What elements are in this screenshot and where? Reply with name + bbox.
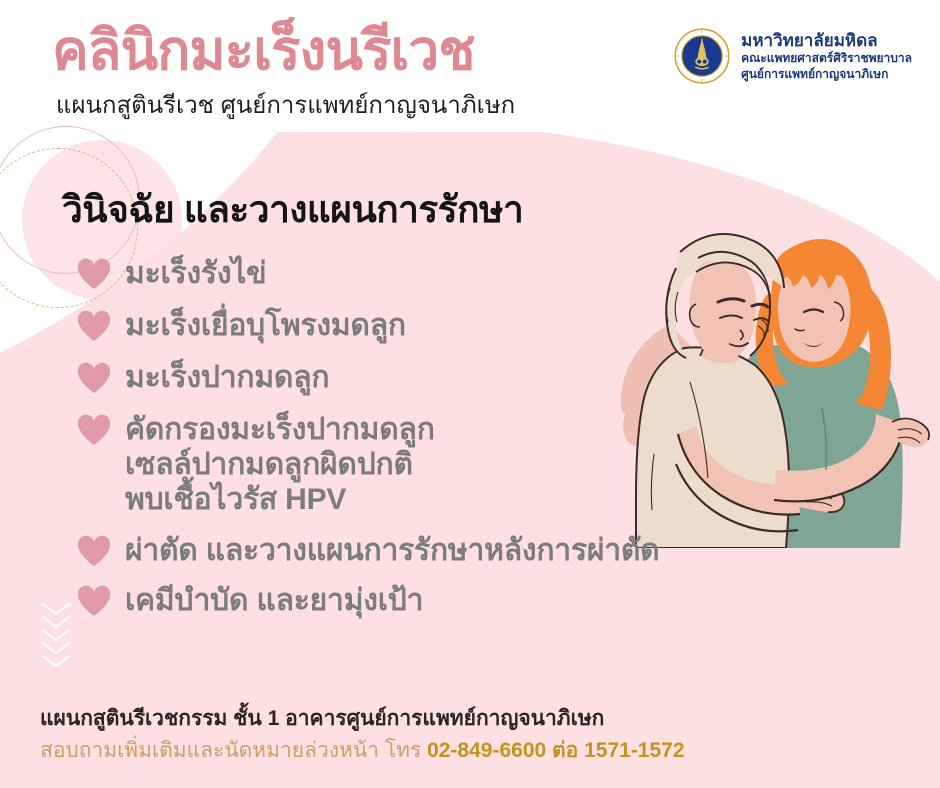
list-item-line: มะเร็งรังไข่: [125, 256, 266, 291]
list-item-line: มะเร็งเยื่อบุโพรงมดลูก: [125, 308, 406, 343]
chevron-down-decoration-icon: [36, 600, 76, 672]
list-item-text: คัดกรองมะเร็งปากมดลูก เซลล์ปากมดลูกผิดปก…: [125, 412, 435, 517]
list-item-line: เคมีบำบัด และยามุ่งเป้า: [125, 583, 423, 618]
list-item-text: มะเร็งเยื่อบุโพรงมดลูก: [125, 308, 406, 343]
list-item-line: คัดกรองมะเร็งปากมดลูก: [125, 412, 435, 447]
list-item: มะเร็งรังไข่: [78, 256, 718, 292]
heart-icon: [78, 362, 110, 396]
list-item-text: มะเร็งปากมดลูก: [125, 360, 329, 395]
page-title: คลินิกมะเร็งนรีเวช: [52, 22, 475, 80]
page-subtitle: แผนกสูตินรีเวช ศูนย์การแพทย์กาญจนาภิเษก: [56, 92, 515, 121]
list-item-line: เซลล์ปากมดลูกผิดปกติ: [125, 447, 435, 482]
footer-location: แผนกสูตินรีเวชกรรม ชั้น 1 อาคารศูนย์การแ…: [40, 705, 900, 733]
poster-footer: แผนกสูตินรีเวชกรรม ชั้น 1 อาคารศูนย์การแ…: [40, 705, 900, 766]
heart-icon: [78, 535, 110, 569]
list-item: ผ่าตัด และวางแผนการรักษาหลังการผ่าตัด: [78, 533, 718, 569]
heart-icon: [78, 258, 110, 292]
organization-logo: มหาวิทยาลัยมหิดล คณะแพทยศาสตร์ศิริราชพยา…: [674, 28, 912, 84]
footer-contact: สอบถามเพิ่มเติมและนัดหมายล่วงหน้า โทร 02…: [40, 736, 900, 766]
heart-icon: [78, 585, 110, 619]
list-item-text: ผ่าตัด และวางแผนการรักษาหลังการผ่าตัด: [125, 533, 659, 568]
list-item-text: เคมีบำบัด และยามุ่งเป้า: [125, 583, 423, 618]
poster-header: คลินิกมะเร็งนรีเวช แผนกสูตินรีเวช ศูนย์ก…: [0, 0, 940, 135]
logo-center-name: ศูนย์การแพทย์กาญจนาภิเษก: [741, 67, 912, 83]
logo-university-name: มหาวิทยาลัยมหิดล: [741, 30, 912, 51]
list-item: เคมีบำบัด และยามุ่งเป้า: [78, 583, 718, 619]
section-heading: วินิจฉัย และวางแผนการรักษา: [62, 180, 523, 239]
list-item-line: พบเชื้อไวรัส HPV: [125, 482, 435, 517]
list-item-line: ผ่าตัด และวางแผนการรักษาหลังการผ่าตัด: [125, 533, 659, 568]
mahidol-university-emblem-icon: [674, 28, 730, 84]
list-item-text: มะเร็งรังไข่: [125, 256, 266, 291]
heart-icon: [78, 414, 110, 448]
logo-faculty-name: คณะแพทยศาสตร์ศิริราชพยาบาล: [741, 51, 912, 67]
list-item: มะเร็งเยื่อบุโพรงมดลูก: [78, 308, 718, 344]
list-item-line: มะเร็งปากมดลูก: [125, 360, 329, 395]
footer-phone-number[interactable]: 02-849-6600 ต่อ 1571-1572: [427, 739, 684, 762]
list-item: มะเร็งปากมดลูก: [78, 360, 718, 396]
list-item: คัดกรองมะเร็งปากมดลูก เซลล์ปากมดลูกผิดปก…: [78, 412, 718, 517]
footer-contact-prefix: สอบถามเพิ่มเติมและนัดหมายล่วงหน้า โทร: [40, 739, 427, 762]
poster-root: คลินิกมะเร็งนรีเวช แผนกสูตินรีเวช ศูนย์ก…: [0, 0, 940, 788]
heart-icon: [78, 310, 110, 344]
services-list: มะเร็งรังไข่ มะเร็งเยื่อบุโพรงมดลูก มะเร…: [78, 256, 718, 633]
